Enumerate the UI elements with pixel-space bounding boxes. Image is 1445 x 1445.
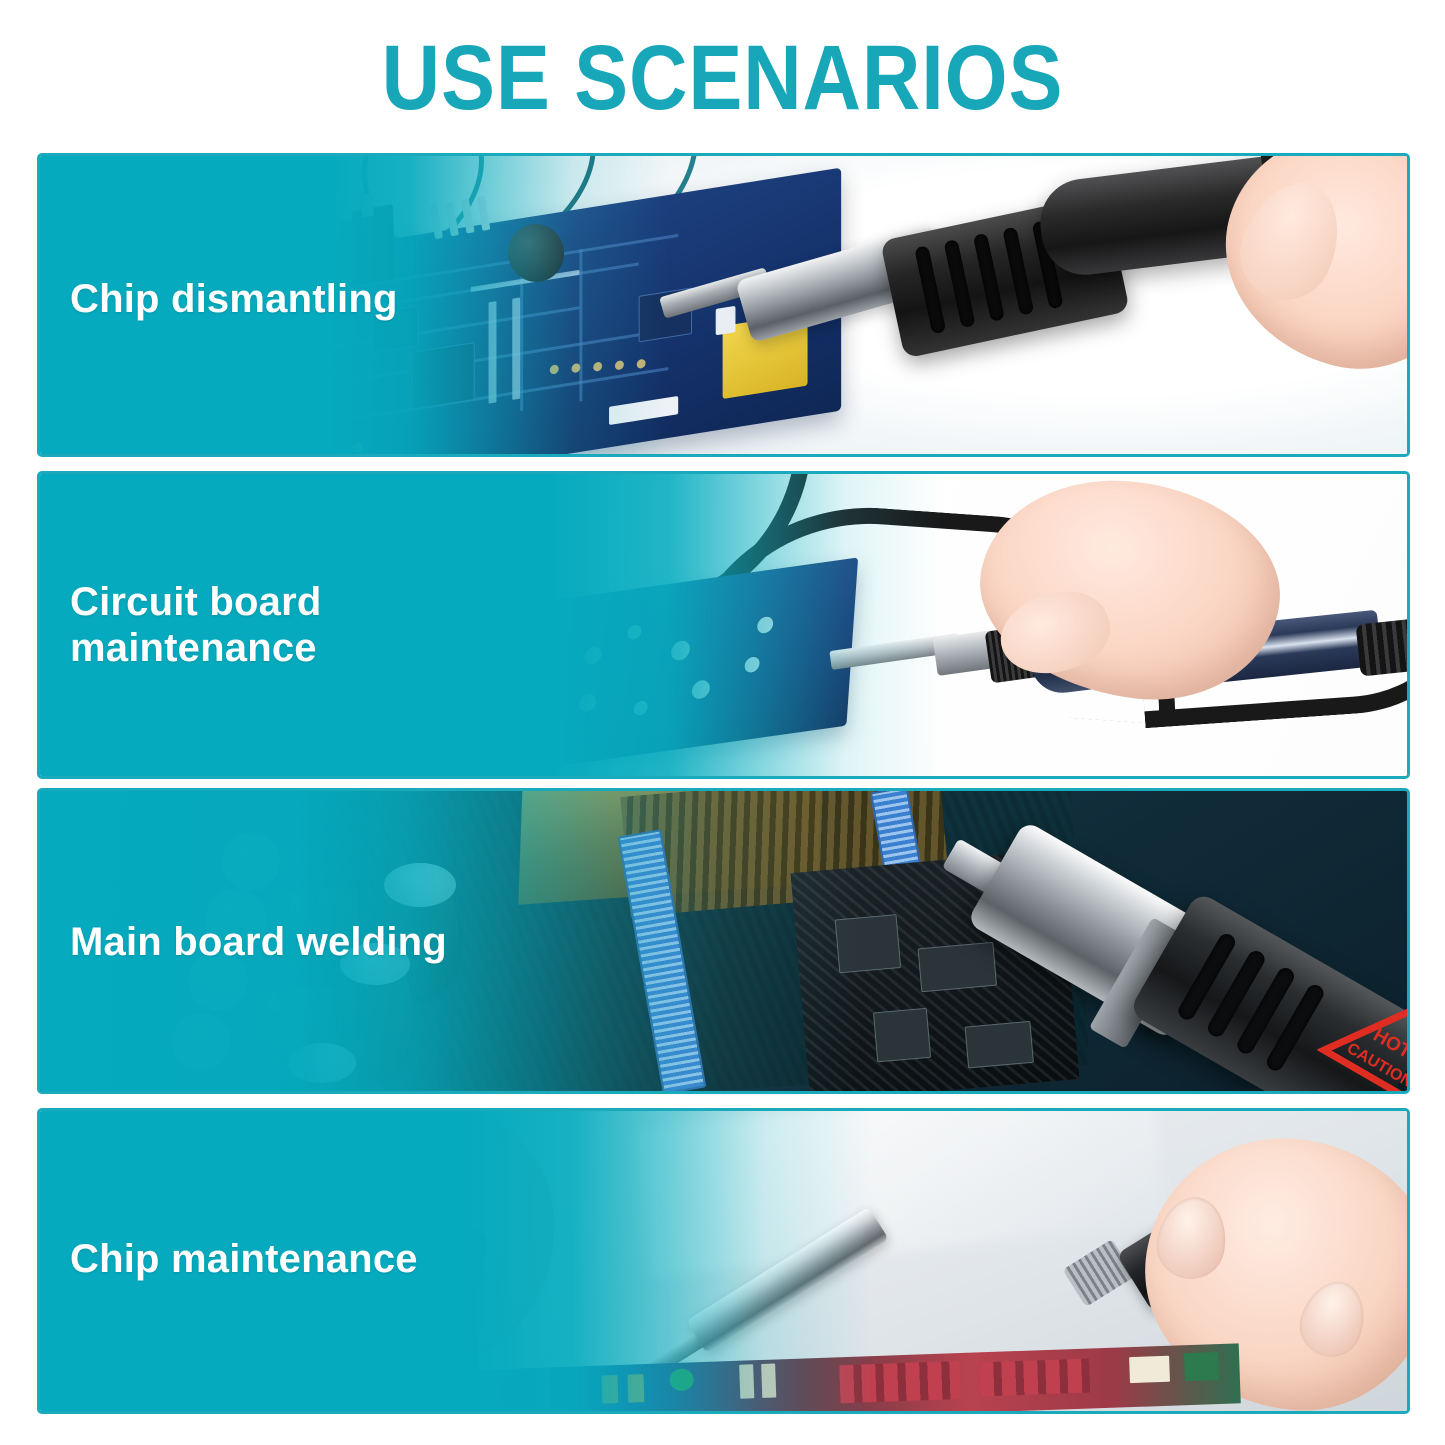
soldering-iron-strain-relief-2 [1356, 615, 1407, 676]
capacitor-top [172, 1013, 230, 1071]
scenario-caption-2: Circuit board maintenance [70, 579, 322, 671]
scenario-panel-chip-maintenance: Chip maintenance [37, 1108, 1410, 1414]
capacitor-top [222, 833, 280, 891]
capacitor-top [384, 863, 456, 907]
scenario-caption-4: Chip maintenance [70, 1236, 418, 1282]
scenario-panel-chip-dismantling: Chip dismantling [37, 153, 1410, 457]
scenario-panel-circuit-board-maintenance: Circuit board maintenance [37, 471, 1410, 779]
scenario-caption-1: Chip dismantling [70, 276, 398, 322]
scenario-caption-3: Main board welding [70, 919, 447, 965]
capacitor-top [288, 1043, 356, 1083]
page-title: USE SCENARIOS [87, 26, 1359, 131]
scenario-panel-main-board-welding: 2R2 2R2 [37, 788, 1410, 1094]
infographic-page: USE SCENARIOS [0, 0, 1445, 1445]
